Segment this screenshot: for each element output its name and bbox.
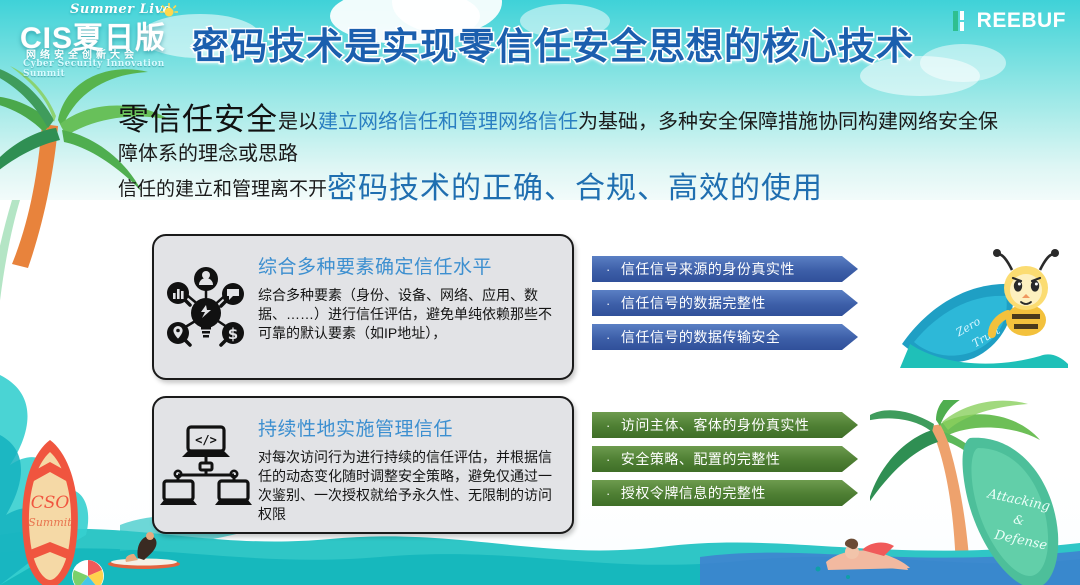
key-message-paragraph: 信任的建立和管理离不开密码技术的正确、合规、高效的使用 [118,172,1018,207]
cis-logo: Summer Live CIS夏日版 网络安全创新大会 Cyber Securi… [14,2,192,72]
card-trust-factors[interactable]: $ 综合多种要素确定信任水平 综合多种要素（身份、设备、网络、应用、数据、……）… [152,234,574,380]
surfboard-cso: CSO Summit [4,438,96,585]
definition-highlight: 建立网络信任和管理网络信任 [318,111,578,133]
board-cso-line2: Summit [28,516,72,529]
slide-root: CSO Summit Attacking & Defense Summer Li… [0,0,1080,585]
freebuf-wordmark: REEBUF [977,9,1066,33]
chip-bullet: · [606,297,611,310]
cis-logo-english: Cyber Security Innovation Summit [23,59,192,79]
card-icon-wrapper: </> [154,398,258,532]
definition-paragraph: 零信任安全是以建立网络信任和管理网络信任为基础，多种安全保障措施协同构建网络安全… [118,104,998,170]
network-laptops-icon: </> [160,419,252,511]
chip-label: 信任信号来源的身份真实性 [621,259,795,279]
cloud-decoration [920,44,1006,82]
bee-mascot-icon: Zero Trust [900,248,1070,368]
chip-trust-signal-identity[interactable]: · 信任信号来源的身份真实性 [592,256,858,282]
card-body: 持续性地实施管理信任 对每次访问行为进行持续的信任评估，并根据信任的动态变化随时… [258,398,572,532]
chip-bullet: · [606,453,611,466]
key-message-highlight: 密码技术的正确、合规、高效的使用 [327,172,823,205]
freebuf-mark-icon [952,10,972,32]
chip-trust-signal-integrity[interactable]: · 信任信号的数据完整性 [592,290,858,316]
board-cso-line1: CSO [31,493,70,513]
chip-subject-object-identity[interactable]: · 访问主体、客体的身份真实性 [592,412,858,438]
chip-trust-signal-transport[interactable]: · 信任信号的数据传输安全 [592,324,858,350]
card-body: 综合多种要素确定信任水平 综合多种要素（身份、设备、网络、应用、数据、……）进行… [258,236,572,351]
definition-mid: 是以 [278,111,318,133]
chip-token-integrity[interactable]: · 授权令牌信息的完整性 [592,480,858,506]
chip-label: 访问主体、客体的身份真实性 [621,415,810,435]
card-title: 综合多种要素确定信任水平 [258,252,558,279]
definition-lead: 零信任安全 [118,102,278,137]
chip-label: 信任信号的数据完整性 [621,293,766,313]
svg-text:$: $ [228,325,238,343]
chip-bullet: · [606,419,611,432]
chip-policy-config-integrity[interactable]: · 安全策略、配置的完整性 [592,446,858,472]
page-title: 密码技术是实现零信任安全思想的核心技术 [192,16,914,70]
chip-label: 安全策略、配置的完整性 [621,449,781,469]
swimmer-figure-icon [822,534,912,578]
card-icon-wrapper: $ [154,236,258,378]
card-text: 对每次访问行为进行持续的信任评估，并根据信任的动态变化随时调整安全策略，避免仅通… [258,448,558,524]
svg-text:</>: </> [195,433,217,447]
chip-bullet: · [606,331,611,344]
card-title: 持续性地实施管理信任 [258,414,558,441]
chip-label: 信任信号的数据传输安全 [621,327,781,347]
surfboard-attack-defense: Attacking & Defense [948,430,1070,585]
card-continuous-trust[interactable]: </> 持续性地实施管理信任 对每次访问行为进行持续的 [152,396,574,534]
chip-bullet: · [606,263,611,276]
key-message-lead: 信任的建立和管理离不开 [118,179,327,200]
freebuf-logo: REEBUF [952,8,1066,34]
card-text: 综合多种要素（身份、设备、网络、应用、数据、……）进行信任评估，避免单纯依赖那些… [258,286,558,343]
trust-factors-lightbulb-icon: $ [160,261,252,353]
chip-label: 授权令牌信息的完整性 [621,483,766,503]
chip-bullet: · [606,487,611,500]
